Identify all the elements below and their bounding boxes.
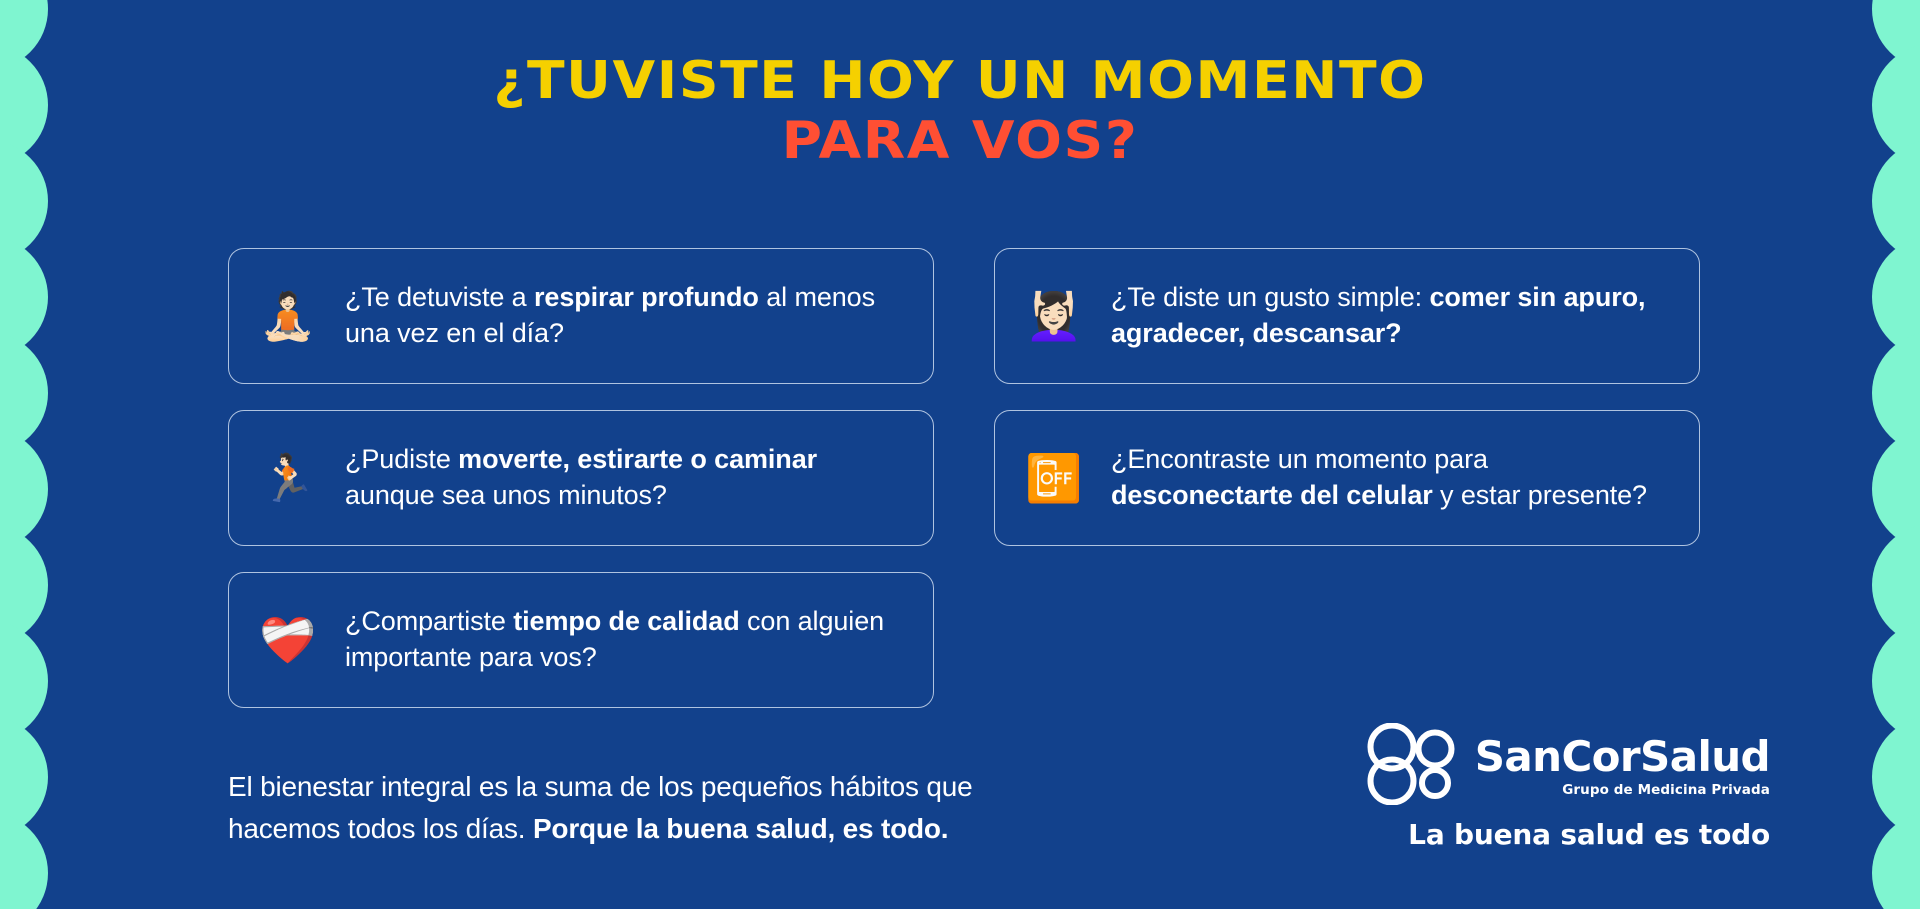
mobile-phone-off-icon: 📴 — [1021, 445, 1087, 511]
question-card-grid: 🧘🏻 ¿Te detuviste a respirar profundo al … — [228, 248, 1700, 708]
question-card: 🧘🏻 ¿Te detuviste a respirar profundo al … — [228, 248, 934, 384]
headline-line-1: ¿TUVISTE HOY UN MOMENTO — [0, 56, 1920, 107]
sancorsalud-logo: SanCorSalud Grupo de Medicina Privada La… — [1365, 723, 1770, 851]
question-text-bold: respirar profundo — [534, 282, 759, 312]
question-card: 💆🏻‍♀️ ¿Te diste un gusto simple: comer s… — [994, 248, 1700, 384]
question-card-text: ¿Te detuviste a respirar profundo al men… — [345, 280, 907, 351]
question-card-text: ¿Pudiste moverte, estirarte o caminar au… — [345, 442, 907, 513]
page-title: ¿TUVISTE HOY UN MOMENTO PARA VOS? — [0, 0, 1920, 167]
question-text-before: ¿Te detuviste a — [345, 282, 534, 312]
logo-brand-name: SanCorSalud — [1475, 736, 1770, 778]
question-text-before: ¿Pudiste — [345, 444, 458, 474]
question-text-bold: tiempo de calidad — [513, 606, 739, 636]
four-rings-logo-icon — [1365, 723, 1461, 810]
question-text-after: aunque sea unos minutos? — [345, 480, 667, 510]
footer: El bienestar integral es la suma de los … — [228, 723, 1770, 851]
poster-canvas: ¿TUVISTE HOY UN MOMENTO PARA VOS? 🧘🏻 ¿Te… — [0, 0, 1920, 909]
person-getting-massage-icon: 💆🏻‍♀️ — [1021, 283, 1087, 349]
headline-line-2: PARA VOS? — [0, 116, 1920, 167]
question-card-text: ¿Compartiste tiempo de calidad con algui… — [345, 604, 907, 675]
question-card: 🏃🏻 ¿Pudiste moverte, estirarte o caminar… — [228, 410, 934, 546]
logo-subtitle: Grupo de Medicina Privada — [1562, 782, 1770, 798]
question-card: ❤️‍🩹 ¿Compartiste tiempo de calidad con … — [228, 572, 934, 708]
person-in-lotus-position-icon: 🧘🏻 — [255, 283, 321, 349]
logo-tagline: La buena salud es todo — [1408, 818, 1770, 851]
footer-message: El bienestar integral es la suma de los … — [228, 766, 1058, 851]
question-text-before: ¿Encontraste un momento para — [1111, 444, 1488, 474]
person-running-icon: 🏃🏻 — [255, 445, 321, 511]
question-text-after: y estar presente? — [1433, 480, 1647, 510]
question-text-before: ¿Compartiste — [345, 606, 513, 636]
logo-wordmark: SanCorSalud Grupo de Medicina Privada — [1475, 736, 1770, 798]
question-text-before: ¿Te diste un gusto simple: — [1111, 282, 1429, 312]
question-card: 📴 ¿Encontraste un momento para desconect… — [994, 410, 1700, 546]
logo-primary-row: SanCorSalud Grupo de Medicina Privada — [1365, 723, 1770, 810]
footer-message-bold: Porque la buena salud, es todo. — [533, 813, 948, 844]
question-card-text: ¿Encontraste un momento para desconectar… — [1111, 442, 1673, 513]
question-text-bold: desconectarte del celular — [1111, 480, 1433, 510]
mending-heart-icon: ❤️‍🩹 — [255, 607, 321, 673]
question-text-bold: moverte, estirarte o caminar — [458, 444, 817, 474]
question-card-text: ¿Te diste un gusto simple: comer sin apu… — [1111, 280, 1673, 351]
